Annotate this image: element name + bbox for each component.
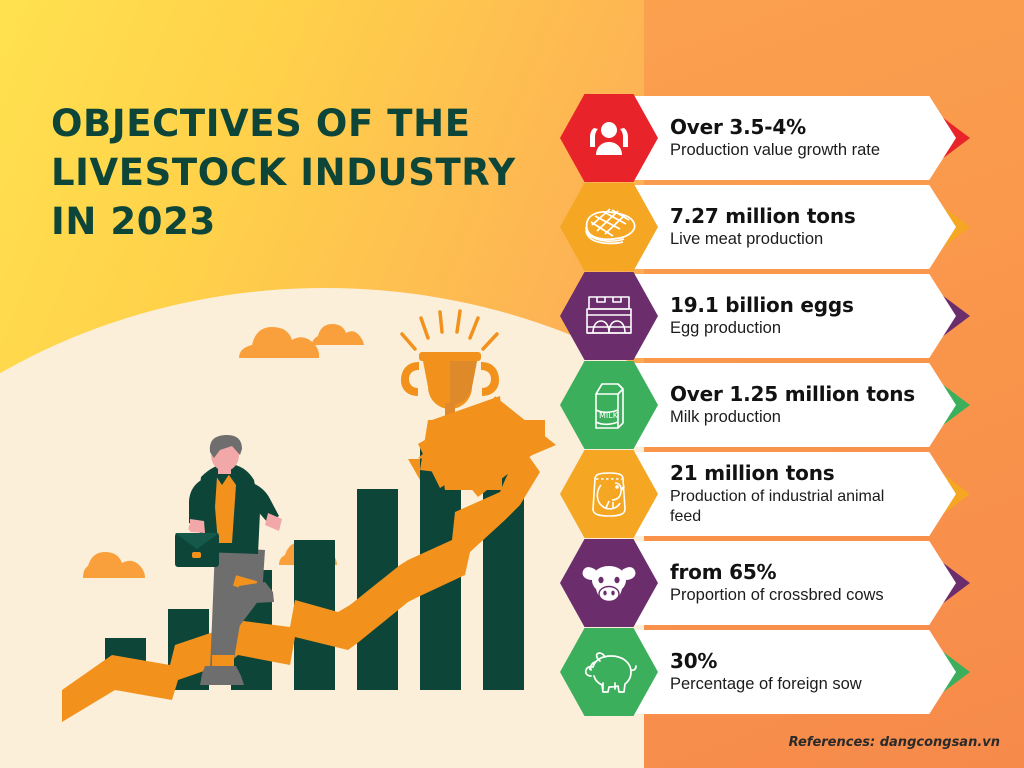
card-text: Over 3.5-4% Production value growth rate: [670, 96, 918, 180]
pig-icon: [581, 651, 637, 693]
stat-card[interactable]: Over 3.5-4% Production value growth rate: [560, 96, 970, 180]
meat-steak-icon: [580, 206, 638, 248]
card-text: 21 million tons Production of industrial…: [670, 452, 918, 536]
card-text: from 65% Proportion of crossbred cows: [670, 541, 918, 625]
stat-value: 7.27 million tons: [670, 204, 918, 228]
stat-card[interactable]: 7.27 million tons Live meat production: [560, 185, 970, 269]
stat-value: 21 million tons: [670, 461, 918, 485]
card-text: 19.1 billion eggs Egg production: [670, 274, 918, 358]
reference-text: References: dangcongsan.vn: [789, 735, 1000, 750]
svg-text:MILK: MILK: [599, 411, 619, 420]
stat-card[interactable]: 30% Percentage of foreign sow: [560, 630, 970, 714]
person-rear-shoe: [200, 666, 244, 685]
stat-card-list: Over 3.5-4% Production value growth rate…: [560, 96, 970, 719]
person-rear-sock: [212, 655, 234, 666]
person-right-hand: [265, 513, 282, 531]
infographic-poster: Objectives of the Livestock Industry in …: [0, 0, 1024, 768]
stat-value: Over 1.25 million tons: [670, 382, 918, 406]
stat-label: Live meat production: [670, 229, 918, 250]
stat-card[interactable]: from 65% Proportion of crossbred cows: [560, 541, 970, 625]
stat-label: Production value growth rate: [670, 140, 918, 161]
stat-label: Egg production: [670, 318, 918, 339]
milk-carton-icon: MILK: [588, 380, 630, 430]
card-text: Over 1.25 million tons Milk production: [670, 363, 918, 447]
feed-bag-icon: [587, 469, 631, 519]
cloud-icon: [239, 327, 319, 358]
card-text: 30% Percentage of foreign sow: [670, 630, 918, 714]
people-icon: [586, 118, 632, 158]
cloud-icon: [83, 552, 145, 578]
trophy-shine-lines: [402, 311, 497, 349]
stat-card[interactable]: 19.1 billion eggs Egg production: [560, 274, 970, 358]
stat-value: from 65%: [670, 560, 918, 584]
cow-head-icon: [582, 560, 636, 606]
growth-illustration: [0, 0, 644, 768]
stat-value: Over 3.5-4%: [670, 115, 918, 139]
egg-carton-icon: [583, 293, 635, 339]
stat-label: Percentage of foreign sow: [670, 674, 918, 695]
cloud-icon: [312, 324, 364, 345]
stat-value: 19.1 billion eggs: [670, 293, 918, 317]
stat-card[interactable]: MILK Over 1.25 million tons Milk product…: [560, 363, 970, 447]
stat-label: Proportion of crossbred cows: [670, 585, 918, 606]
stat-label: Milk production: [670, 407, 918, 428]
stat-value: 30%: [670, 649, 918, 673]
card-text: 7.27 million tons Live meat production: [670, 185, 918, 269]
stat-label: Production of industrial animal feed: [670, 487, 918, 527]
stat-card[interactable]: 21 million tons Production of industrial…: [560, 452, 970, 536]
